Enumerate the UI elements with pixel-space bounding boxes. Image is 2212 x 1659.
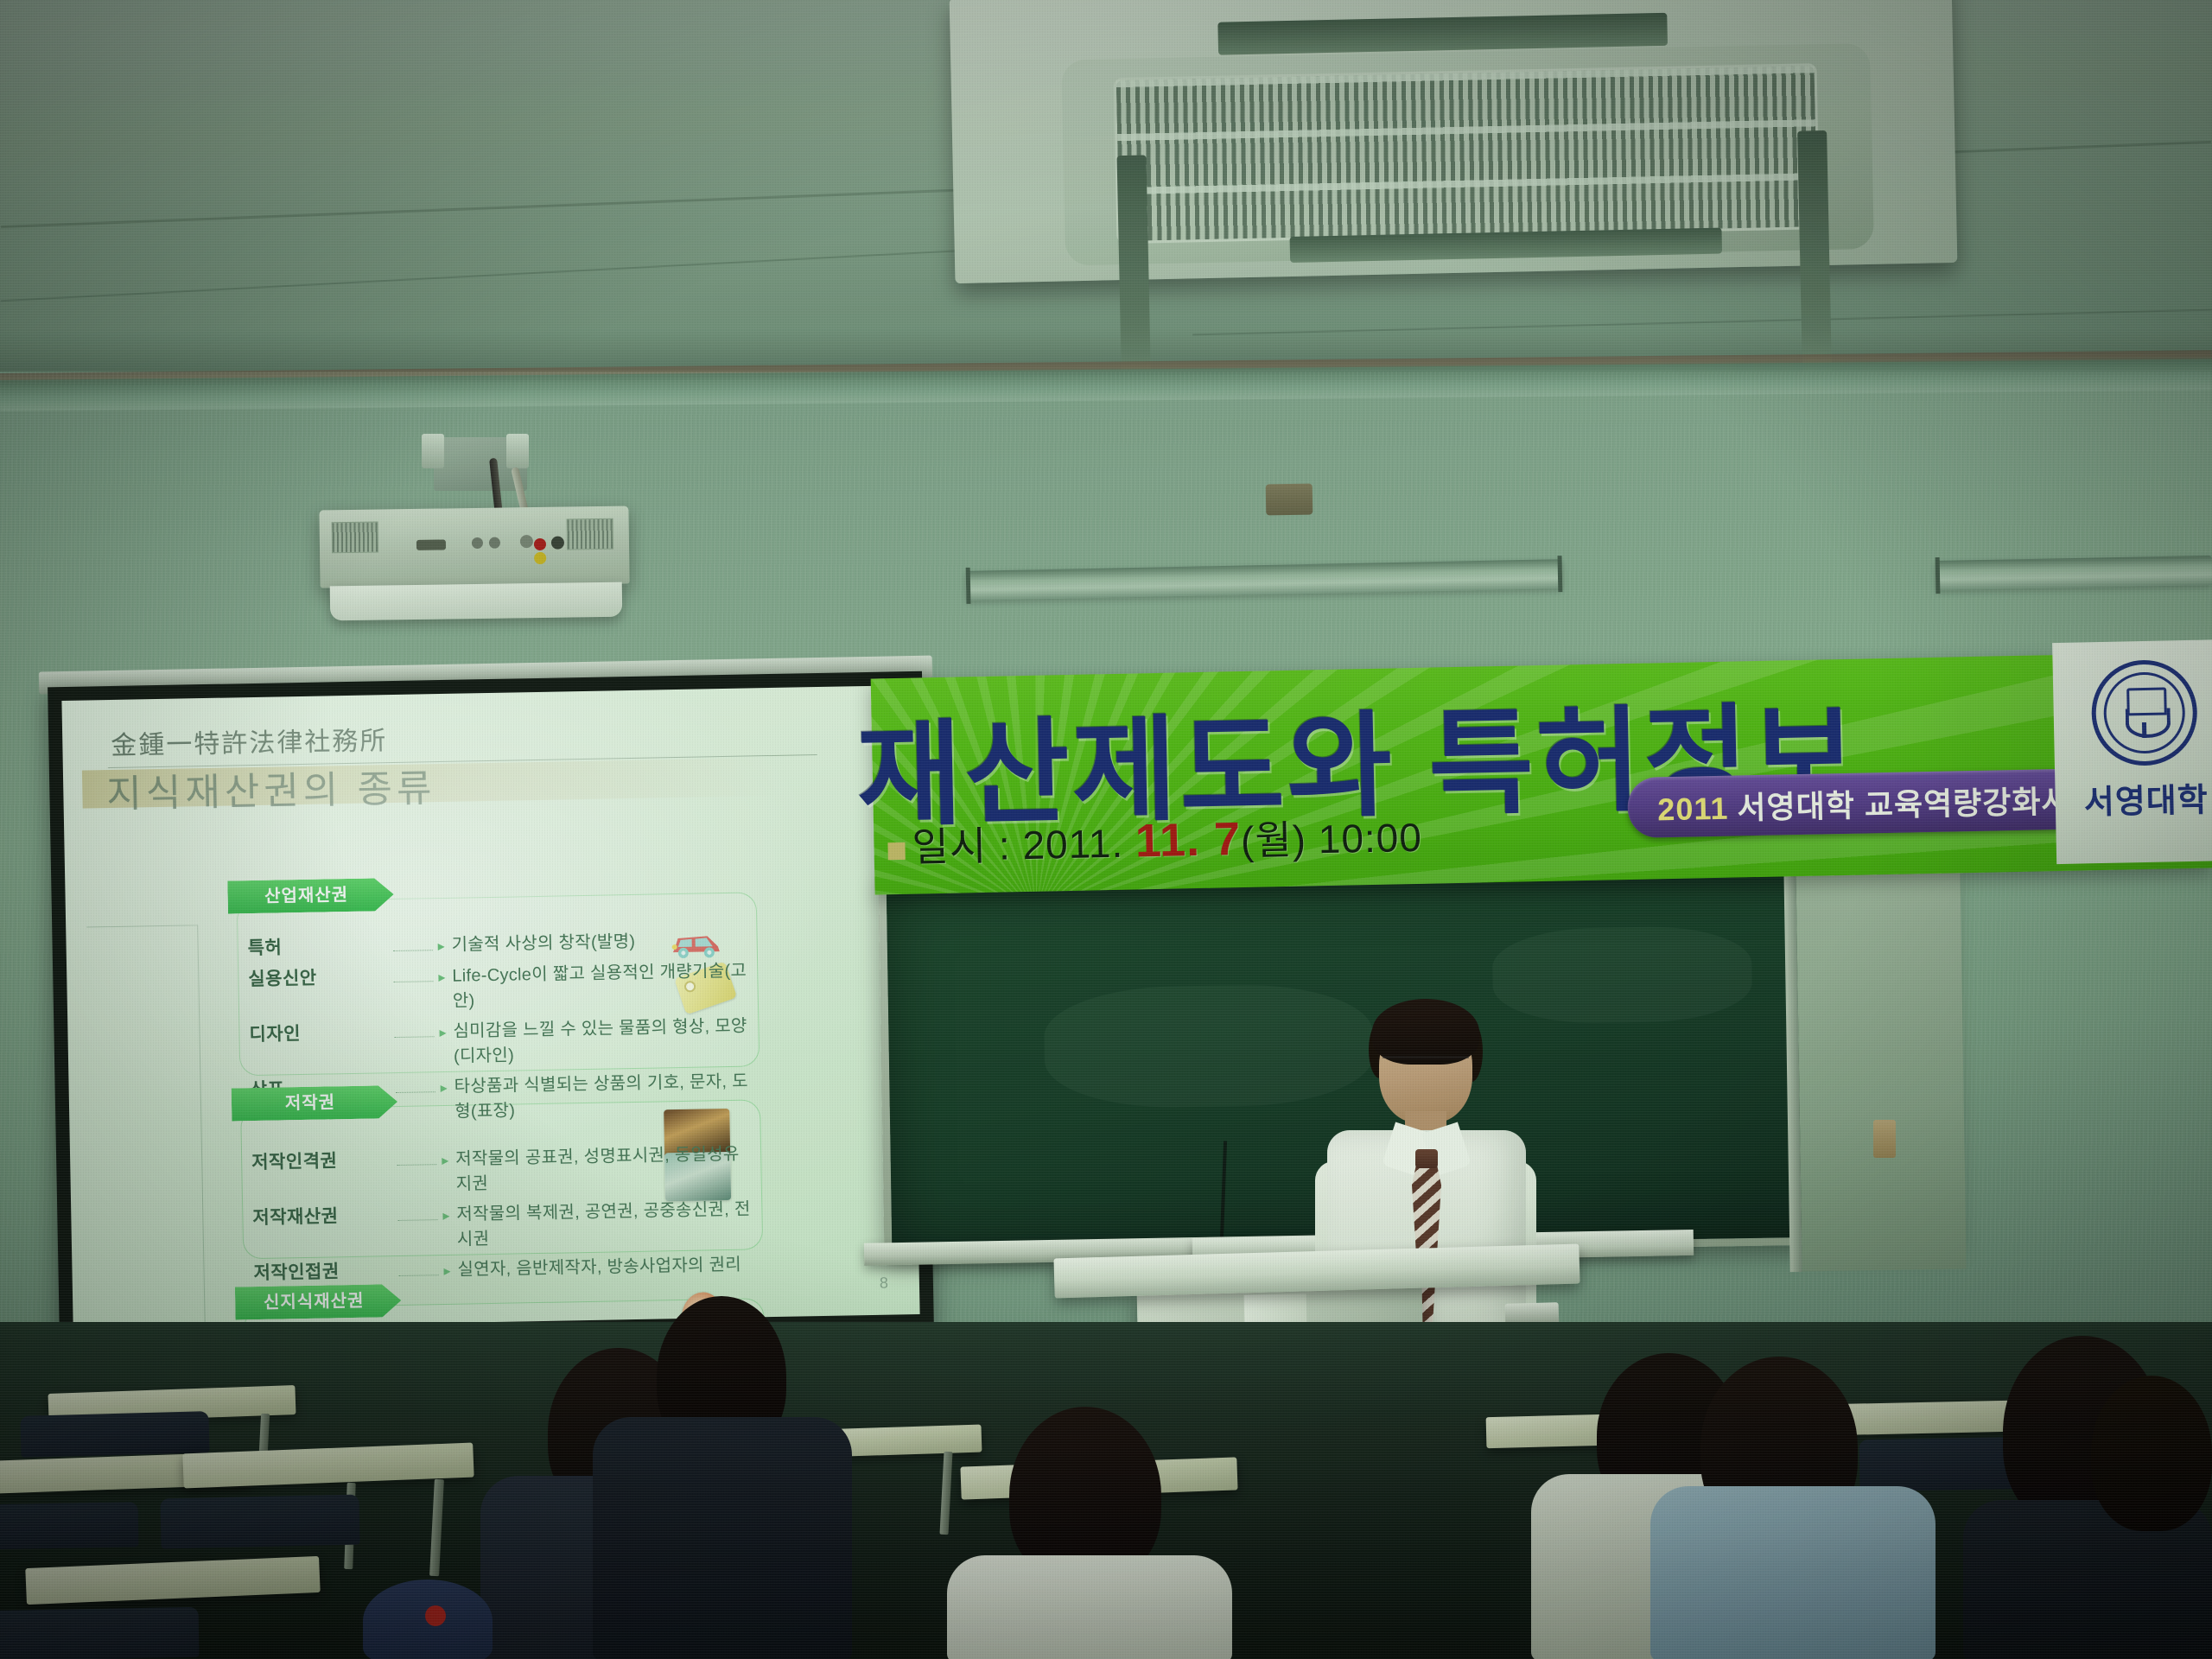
fixture-end-cap [1558, 556, 1563, 592]
projector-port [489, 537, 500, 549]
bullet-arrow-icon: ▸ [438, 938, 452, 955]
bullet-arrow-icon: ▸ [442, 1207, 456, 1224]
slide-tag-label: 신지식재산권 [235, 1284, 402, 1320]
navy-cap [363, 1580, 493, 1659]
presenter-tie-knot [1415, 1149, 1438, 1168]
ceiling-projector [319, 506, 629, 588]
projector-port-red [534, 538, 546, 550]
wall-side-panel [1796, 863, 1966, 1272]
slide-page-number: 8 [880, 1274, 888, 1293]
projector-port [520, 535, 533, 548]
slide-row-term: 저작재산권 [252, 1201, 398, 1230]
projector-port [472, 537, 483, 549]
ac-louver-right [1797, 130, 1832, 382]
slide-row: 디자인 ▸ 심미감을 느낄 수 있는 물품의 형상, 모양(디자인) [249, 1012, 751, 1071]
person-torso [593, 1417, 852, 1659]
slide-rows: 저작인격권 ▸ 저작물의 공표권, 성명표시권, 동일성유지권 저작재산권 ▸ … [232, 1125, 772, 1307]
slide-tag-label: 저작권 [232, 1085, 398, 1122]
slide-row-desc: Life-Cycle이 짧고 실용적인 개량기술(고안) [452, 957, 750, 1012]
bullet-arrow-icon: ▸ [438, 969, 452, 986]
leader-dots [394, 1026, 434, 1038]
university-logo-panel: 서영대학 [2052, 639, 2212, 864]
slide-row: 실용신안 ▸ Life-Cycle이 짧고 실용적인 개량기술(고안) [248, 957, 750, 1016]
wall-mounted-box [1266, 484, 1313, 516]
banner-date-prefix: 일시 : 2011. [912, 821, 1124, 870]
slide-row-desc: 타상품과 식별되는 상품의 기호, 문자, 도형(표장) [454, 1066, 752, 1122]
chair-back [160, 1495, 359, 1549]
leader-dots [397, 1154, 436, 1166]
slide-row: 저작인접권 ▸ 실연자, 음반제작자, 방송사업자의 권리 [253, 1249, 754, 1285]
banner-date-suffix: (월) 10:00 [1241, 815, 1423, 863]
chair-back [0, 1502, 138, 1549]
fluorescent-light-right [1935, 556, 2212, 590]
ac-inner-panel [1061, 43, 1874, 266]
badge-year: 2011 [1657, 791, 1729, 828]
slide-row-desc: 저작물의 공표권, 성명표시권, 동일성유지권 [455, 1139, 753, 1194]
presenter-hair [1372, 999, 1479, 1065]
bullet-arrow-icon: ▸ [442, 1152, 455, 1169]
slide-row-desc: 저작물의 복제권, 공연권, 공중송신권, 전시권 [456, 1194, 754, 1249]
fixture-end-cap [966, 568, 971, 604]
ceiling-tile-seam [1, 250, 968, 302]
slide-title: 지식재산권의 종류 [106, 757, 436, 818]
cap-emblem-icon [425, 1605, 446, 1626]
projector-mount-arm [506, 434, 529, 468]
slide-row: 저작인격권 ▸ 저작물의 공표권, 성명표시권, 동일성유지권 [251, 1139, 753, 1198]
fixture-end-cap [1935, 557, 1941, 594]
projector-port [551, 537, 564, 550]
event-banner: 재산제도와 특허정보 일시 : 2011. 11. 7(월) 10:00 201… [871, 652, 2212, 894]
slide-row: 저작재산권 ▸ 저작물의 복제권, 공연권, 공중송신권, 전시권 [252, 1194, 754, 1254]
chair-back [0, 1607, 199, 1659]
banner-bullet-icon [887, 842, 905, 860]
projected-slide: 金鍾一特許法律社務所 지식재산권의 종류 산업재산권 특허 ▸ 기 [61, 685, 919, 1330]
leader-dots [398, 1264, 438, 1276]
slide-row-term: 디자인 [249, 1018, 395, 1046]
slide-title-bar: 지식재산권의 종류 [82, 758, 776, 809]
slide-row-desc: 실연자, 음반제작자, 방송사업자의 권리 [457, 1250, 741, 1281]
slide-tag-label: 산업재산권 [227, 878, 394, 914]
slide-content: 金鍾一特許法律社務所 지식재산권의 종류 산업재산권 특허 ▸ 기 [61, 685, 919, 1330]
ceiling-air-conditioner [950, 0, 1958, 283]
photo-scene: 金鍾一特許法律社務所 지식재산권의 종류 산업재산권 특허 ▸ 기 [0, 0, 2212, 1659]
badge-text: 서영대학 교육역량강화사업 [1737, 783, 2101, 825]
banner-date-line: 일시 : 2011. 11. 7(월) 10:00 [887, 806, 1423, 874]
university-seal-icon [2091, 659, 2198, 766]
slide-row-term: 실용신안 [248, 963, 394, 991]
bullet-arrow-icon: ▸ [441, 1079, 454, 1096]
leader-dots [393, 939, 433, 951]
chair-back [20, 1411, 209, 1458]
slide-sidebar-rule [86, 925, 208, 1330]
projector-vent-icon [332, 522, 378, 554]
leader-dots [397, 1209, 437, 1221]
slide-firm-name: 金鍾一特許法律社務所 [111, 710, 880, 762]
slide-row-term: 저작인접권 [253, 1256, 399, 1285]
leader-dots [393, 970, 433, 982]
bullet-arrow-icon: ▸ [439, 1024, 453, 1041]
seal-stem-icon [2142, 722, 2146, 738]
presenter-glasses-icon [1382, 1056, 1469, 1058]
seal-cup-icon [2126, 708, 2171, 738]
person-head [2091, 1376, 2212, 1531]
person-torso [947, 1555, 1232, 1659]
seal-emblem [2120, 687, 2169, 738]
projector-port-vga [416, 539, 446, 550]
ac-grille-icon [1114, 63, 1821, 244]
projector-port-yellow [534, 552, 546, 564]
slide-row: 특허 ▸ 기술적 사상의 창작(발명) [247, 925, 748, 961]
wall-outlet [1873, 1120, 1896, 1158]
slide-row-desc: 기술적 사상의 창작(발명) [451, 927, 635, 956]
slide-row-desc: 심미감을 느낄 수 있는 물품의 형상, 모양(디자인) [453, 1012, 751, 1067]
projector-mount [399, 437, 562, 508]
university-name: 서영대학 [2083, 773, 2209, 823]
person-torso [1650, 1486, 1935, 1659]
leader-dots [396, 1081, 435, 1093]
projection-screen: 金鍾一特許法律社務所 지식재산권의 종류 산업재산권 특허 ▸ 기 [48, 671, 934, 1344]
banner-date-highlight: 11. 7 [1135, 813, 1241, 867]
projector-lens-housing [330, 582, 623, 621]
projector-vent-icon [567, 518, 613, 550]
slide-row-term: 특허 [247, 931, 393, 960]
projector-mount-arm [422, 434, 444, 468]
slide-row-term: 저작인격권 [251, 1146, 397, 1174]
bullet-arrow-icon: ▸ [443, 1262, 457, 1280]
